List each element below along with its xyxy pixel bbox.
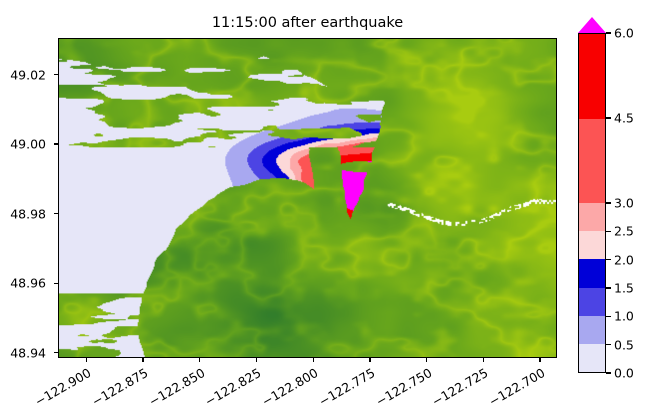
figure-canvas: 11:15:00 after earthquake 48.9448.9648.9… [0, 0, 646, 417]
colorbar-tick-mark [606, 231, 611, 232]
y-tick-label: 48.96 [0, 276, 54, 291]
colorbar-segment [579, 34, 605, 119]
y-axis: 48.9448.9648.9849.0049.02 [0, 38, 58, 358]
x-tick-label: −122.825 [196, 365, 264, 413]
colorbar-segment [579, 231, 605, 259]
colorbar-tick-mark [606, 287, 611, 288]
x-tick-mark [256, 358, 257, 362]
plot-title: 11:15:00 after earthquake [58, 15, 557, 31]
map-axes[interactable] [58, 38, 557, 358]
colorbar-gradient [578, 33, 606, 373]
x-tick-mark [86, 358, 87, 362]
x-tick-mark [483, 358, 484, 362]
colorbar-tick-mark [606, 202, 611, 203]
colorbar-tick-mark [606, 32, 611, 33]
x-tick-mark [142, 358, 143, 362]
colorbar-tick-label: 1.5 [614, 281, 634, 296]
y-tick-mark [54, 74, 58, 75]
colorbar-segment [579, 288, 605, 316]
colorbar-tick-mark [606, 259, 611, 260]
colorbar-tick-label: 3.0 [614, 196, 634, 211]
x-tick-label: −122.900 [26, 365, 94, 413]
y-tick-label: 48.94 [0, 345, 54, 360]
y-tick-label: 49.02 [0, 67, 54, 82]
x-tick-mark [426, 358, 427, 362]
colorbar-tick-mark [606, 316, 611, 317]
y-tick-mark [54, 213, 58, 214]
colorbar-segment [579, 259, 605, 287]
colorbar-segment [579, 316, 605, 344]
y-tick-mark [54, 143, 58, 144]
colorbar-tick-label: 6.0 [614, 26, 634, 41]
colorbar-tick-label: 2.5 [614, 224, 634, 239]
colorbar-segment [579, 344, 605, 372]
colorbar-tick-label: 1.0 [614, 309, 634, 324]
x-tick-mark [313, 358, 314, 362]
colorbar-tick-mark [606, 117, 611, 118]
x-tick-mark [369, 358, 370, 362]
colorbar-over-arrow-icon [578, 17, 606, 33]
x-tick-label: −122.875 [82, 365, 150, 413]
y-tick-label: 49.00 [0, 137, 54, 152]
colorbar-segment [579, 203, 605, 231]
colorbar[interactable]: 0.00.51.01.52.02.53.04.56.0 [578, 17, 646, 399]
colorbar-tick-label: 0.5 [614, 337, 634, 352]
x-tick-label: −122.700 [479, 365, 547, 413]
x-tick-label: −122.850 [139, 365, 207, 413]
inundation-heatmap [59, 39, 556, 357]
y-tick-mark [54, 283, 58, 284]
x-tick-mark [199, 358, 200, 362]
y-tick-label: 48.98 [0, 206, 54, 221]
x-tick-label: −122.775 [309, 365, 377, 413]
x-tick-label: −122.800 [253, 365, 321, 413]
colorbar-segment [579, 119, 605, 204]
x-tick-mark [539, 358, 540, 362]
colorbar-tick-label: 0.0 [614, 366, 634, 381]
colorbar-tick-mark [606, 372, 611, 373]
colorbar-tick-label: 4.5 [614, 111, 634, 126]
colorbar-tick-label: 2.0 [614, 252, 634, 267]
colorbar-tick-mark [606, 344, 611, 345]
x-tick-label: −122.725 [423, 365, 491, 413]
y-tick-mark [54, 352, 58, 353]
x-axis: −122.900−122.875−122.850−122.825−122.800… [58, 358, 557, 417]
x-tick-label: −122.750 [366, 365, 434, 413]
